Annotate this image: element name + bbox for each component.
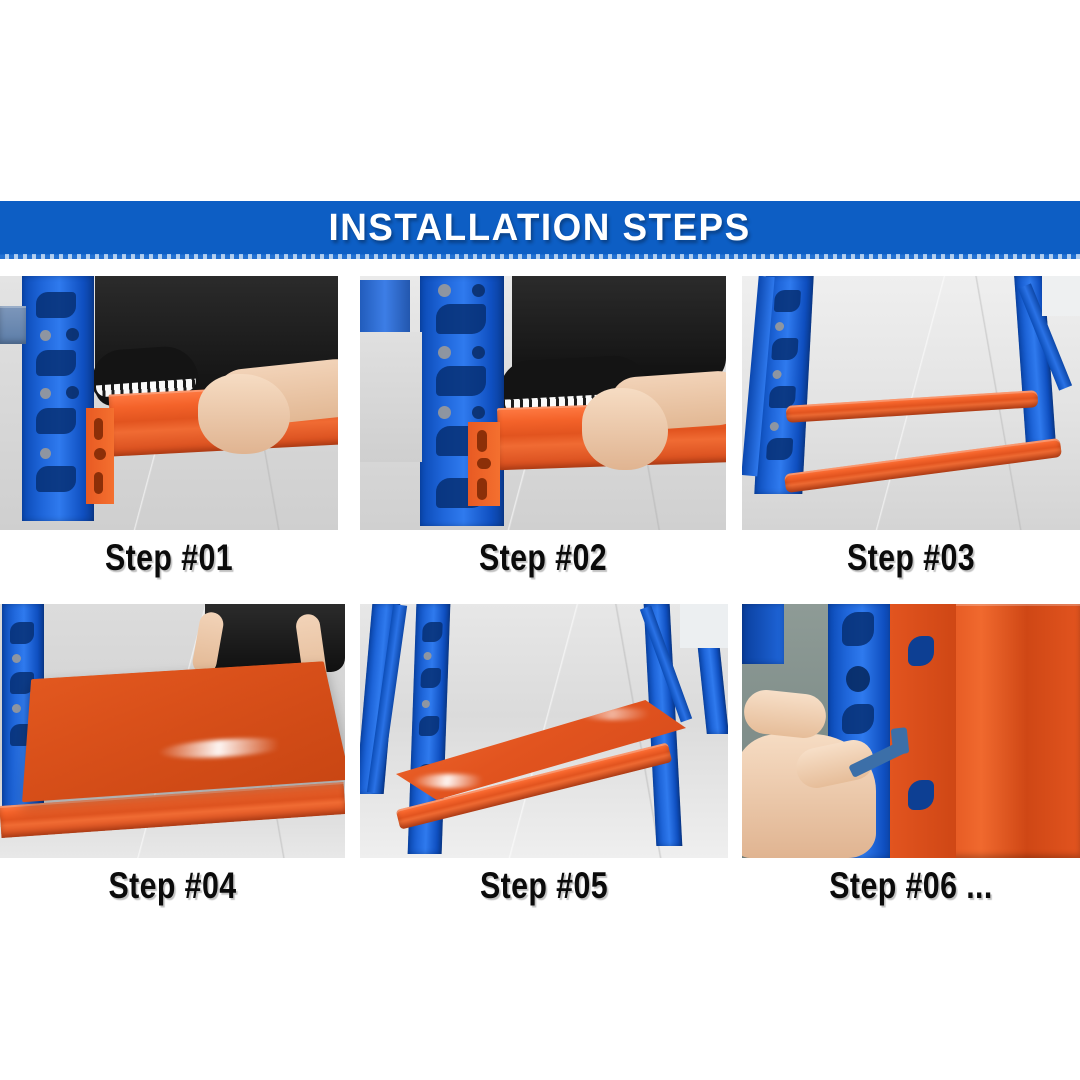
rack-upright-background <box>742 604 784 664</box>
step-photo-5 <box>360 604 728 858</box>
rack-beam-far <box>0 306 26 344</box>
beam-end-connector <box>468 422 500 506</box>
step-card-2[interactable]: Step #02 <box>360 276 726 530</box>
step-card-4[interactable]: Step #04 <box>0 604 345 858</box>
back-wall <box>680 604 728 648</box>
step-card-3[interactable]: Step #03 <box>742 276 1080 530</box>
step-photo-6 <box>742 604 1080 858</box>
step-card-5[interactable]: Step #05 <box>360 604 728 858</box>
step-card-6[interactable]: Step #06 ... <box>742 604 1080 858</box>
installation-steps-grid: Step #01 <box>0 0 1080 1080</box>
rack-upright-column <box>22 276 94 521</box>
step-caption-5: Step #05 <box>393 865 695 907</box>
step-card-1[interactable]: Step #01 <box>0 276 338 530</box>
panel-glare <box>159 735 293 761</box>
hand <box>198 374 290 454</box>
hand <box>582 388 668 470</box>
step-caption-6: Step #06 ... <box>772 865 1049 907</box>
panel-glare <box>413 774 488 788</box>
step-caption-2: Step #02 <box>393 537 693 579</box>
back-wall <box>1042 276 1080 316</box>
step-caption-1: Step #01 <box>30 537 307 579</box>
step-photo-3 <box>742 276 1080 530</box>
step-photo-1 <box>0 276 338 530</box>
step-caption-4: Step #04 <box>31 865 314 907</box>
beam-end-connector <box>86 408 114 504</box>
back-wall <box>360 332 422 462</box>
step-caption-3: Step #03 <box>772 537 1049 579</box>
safety-lock-pin-head <box>891 727 910 755</box>
shelf-deck-panel <box>22 661 345 802</box>
step-photo-4 <box>0 604 345 858</box>
step-photo-2 <box>360 276 726 530</box>
